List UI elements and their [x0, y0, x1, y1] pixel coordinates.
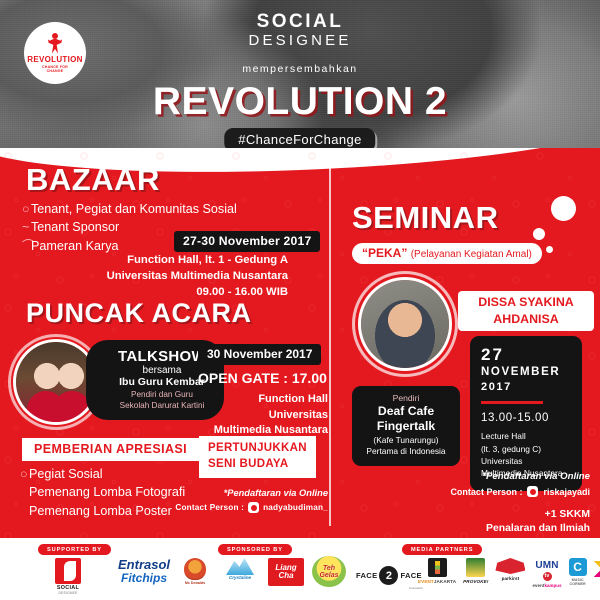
logo-provoke: PROVOKE!	[463, 558, 488, 584]
logo-crystaline: Crystaline	[222, 558, 258, 580]
list-item-label: Pemenang Lomba Fotografi	[29, 485, 185, 499]
mcdonalds-label: Mc Donalds	[178, 581, 212, 585]
supported-by-label: SUPPORTED BY	[38, 544, 111, 555]
seminar-time: 13.00-15.00	[481, 411, 571, 426]
puncak-acara-title: PUNCAK ACARA	[26, 298, 252, 329]
music-corner-label: MUSIC CORNER	[569, 578, 587, 586]
provoke-label: PROVOKE!	[463, 579, 488, 584]
seminar-contact-handle: riskajayadi	[543, 487, 590, 497]
logo-kibar	[594, 558, 600, 577]
bazaar-title: BAZAAR	[26, 162, 160, 198]
logo-event-jakarta: EVENTJAKARTA	[418, 558, 456, 584]
puncak-open-gate: OPEN GATE : 17.00	[198, 370, 327, 386]
decorative-circle-large	[551, 196, 576, 221]
logo-mcdonalds: Mc Donalds	[178, 558, 212, 585]
logo-entrasol: Entrasol Fitchips	[118, 558, 170, 586]
decorative-circle-small	[546, 246, 553, 253]
seminar-theme-badge: “PEKA” (Pelayanan Kegiatan Amal)	[352, 243, 542, 264]
logo-parkirst: parkirst	[495, 558, 525, 581]
list-item-label: Pameran Karya	[31, 239, 119, 253]
bazaar-venue-line-2: Universitas Multimedia Nusantara	[107, 268, 288, 284]
social-designee-mark-icon	[55, 558, 81, 584]
presents-text: mempersembahkan	[0, 63, 600, 75]
page-title: REVOLUTION 2	[0, 80, 600, 124]
event-kampus-label: eventkampus	[532, 583, 561, 588]
logo-face-2-face: FACE 2 FACE Cosmetics	[356, 566, 422, 585]
bullet-marker: ⌒	[22, 237, 31, 255]
social-designee-name-line-2: DESIGNEE	[52, 591, 84, 595]
decorative-circle-medium	[533, 228, 545, 240]
logo-social-designee: SOCIAL DESIGNEE	[52, 558, 84, 595]
logo-liang-cha: LiangCha	[268, 558, 304, 586]
column-divider	[329, 158, 331, 526]
speaker-role-description: (Kafe Tunarungu) Pertama di Indonesia	[359, 435, 453, 457]
puncak-venue-line-1: Function Hall	[196, 392, 328, 408]
puncak-venue: Function Hall Universitas Multimedia Nus…	[196, 392, 328, 439]
mountain-icon	[226, 558, 254, 575]
instagram-icon	[248, 502, 259, 513]
parkirst-mark-icon	[495, 558, 525, 574]
list-item-label: Tenant Sponsor	[31, 220, 119, 234]
event-jakarta-label: EVENTJAKARTA	[418, 579, 456, 584]
list-item: ○Tenant, Pegiat dan Komunitas Sosial	[22, 200, 237, 218]
bazaar-venue-line-1: Function Hall, lt. 1 - Gedung A	[107, 252, 288, 268]
schedule-divider	[481, 401, 543, 404]
seminar-date-year: 2017	[481, 380, 571, 395]
talkshow-guest-photo	[16, 342, 96, 422]
instagram-icon	[527, 486, 538, 497]
poster-footer: SUPPORTED BY SPONSORED BY MEDIA PARTNERS…	[0, 538, 600, 600]
list-item-label: Pegiat Sosial	[29, 467, 103, 481]
event-jakarta-mark-icon	[428, 558, 447, 577]
puncak-contact-handle: nadyabudiman_	[263, 503, 328, 512]
seminar-theme-name: “PEKA”	[362, 246, 407, 260]
skkm-line-1: +1 SKKM	[390, 508, 590, 522]
speaker-role-title: Deaf Cafe Fingertalk	[359, 404, 453, 433]
puncak-date-badge: 30 November 2017	[198, 344, 321, 365]
speaker-name: DISSA SYAKINA AHDANISA	[458, 291, 594, 331]
seminar-venue-line-3: Universitas	[481, 455, 571, 467]
puncak-contact-person: Contact Person : nadyabudiman_	[150, 502, 328, 513]
list-item-label: Tenant, Pegiat dan Komunitas Sosial	[31, 202, 237, 216]
seminar-venue-line-1: Lecture Hall	[481, 430, 571, 442]
seminar-date-month: NOVEMBER	[481, 365, 571, 381]
mascot-icon	[184, 558, 206, 580]
puncak-contact-label: Contact Person :	[175, 503, 244, 512]
music-corner-mark-icon: C	[569, 558, 587, 576]
sponsored-by-label: SPONSORED BY	[218, 544, 292, 555]
seminar-title: SEMINAR	[352, 200, 498, 236]
crystaline-label: Crystaline	[222, 575, 258, 580]
pertunjukkan-line-2: SENI BUDAYA	[208, 457, 307, 473]
logo-music-corner: C MUSIC CORNER	[569, 558, 587, 586]
seminar-skkm-note: +1 SKKM Penalaran dan Ilmiah	[390, 508, 590, 536]
parkirst-label: parkirst	[495, 576, 525, 581]
seminar-venue-line-2: (lt. 3, gedung C)	[481, 443, 571, 455]
brand-lockup: SOCIAL DESIGNEE	[0, 12, 600, 50]
puncak-venue-line-2: Universitas	[196, 408, 328, 424]
face-label-left: FACE	[356, 571, 377, 580]
pertunjukkan-line-1: PERTUNJUKKAN	[208, 441, 307, 457]
speaker-name-line-2: AHDANISA	[462, 311, 590, 328]
brand-line-1: SOCIAL	[0, 12, 600, 32]
seminar-theme-subtitle: (Pelayanan Kegiatan Amal)	[411, 249, 532, 260]
bullet-marker: ~	[22, 218, 31, 236]
entrasol-label: Entrasol	[118, 558, 170, 572]
liang-cha-label: LiangCha	[275, 564, 296, 581]
seminar-date-day: 27	[481, 346, 571, 365]
seminar-registration-note: *Pendaftaran via Online	[400, 471, 590, 482]
umn-label: UMNtv	[532, 560, 561, 582]
list-item: Pemenang Lomba Fotografi	[20, 483, 185, 501]
brand-line-2: DESIGNEE	[0, 32, 600, 50]
pertunjukkan-badge: PERTUNJUKKAN SENI BUDAYA	[199, 436, 316, 478]
poster-header: REVOLUTION CHANCE FORCHANGE SOCIAL DESIG…	[0, 0, 600, 160]
logo-umn-tv: UMNtv eventkampus	[532, 558, 561, 588]
speaker-role-prefix: Pendiri	[359, 393, 453, 403]
logo-teh-gelas: TehGelas	[312, 556, 346, 587]
seminar-contact-person: Contact Person : riskajayadi	[380, 486, 590, 497]
kibar-mark-icon	[594, 561, 600, 577]
teh-gelas-label: TehGelas	[319, 565, 338, 579]
bullet-marker: ○	[20, 465, 29, 483]
seminar-schedule-card: 27 NOVEMBER 2017 13.00-15.00 Lecture Hal…	[470, 336, 582, 491]
seminar-contact-label: Contact Person :	[450, 487, 522, 497]
speaker-role-card: Pendiri Deaf Cafe Fingertalk (Kafe Tunar…	[352, 386, 460, 466]
list-item: ○Pegiat Sosial	[20, 465, 185, 483]
fitchips-label: Fitchips	[118, 572, 170, 586]
bullet-marker: ○	[22, 200, 31, 218]
provoke-mark-icon	[466, 558, 485, 577]
bazaar-date-badge: 27-30 November 2017	[174, 231, 320, 252]
apresiasi-title-badge: PEMBERIAN APRESIASI	[22, 438, 199, 461]
skkm-line-2: Penalaran dan Ilmiah	[390, 522, 590, 536]
face-2-face-number: 2	[379, 566, 398, 585]
speaker-name-line-1: DISSA SYAKINA	[462, 294, 590, 311]
poster-body: BAZAAR ○Tenant, Pegiat dan Komunitas Sos…	[0, 148, 600, 538]
speaker-photo	[361, 280, 449, 368]
media-partner-logos: EVENTJAKARTA PROVOKE! parkirst UMNtv eve…	[418, 558, 600, 588]
puncak-registration-note: *Pendaftaran via Online	[170, 488, 328, 498]
media-partners-label: MEDIA PARTNERS	[402, 544, 482, 555]
event-poster: REVOLUTION CHANCE FORCHANGE SOCIAL DESIG…	[0, 0, 600, 600]
bazaar-venue: Function Hall, lt. 1 - Gedung A Universi…	[107, 252, 288, 300]
